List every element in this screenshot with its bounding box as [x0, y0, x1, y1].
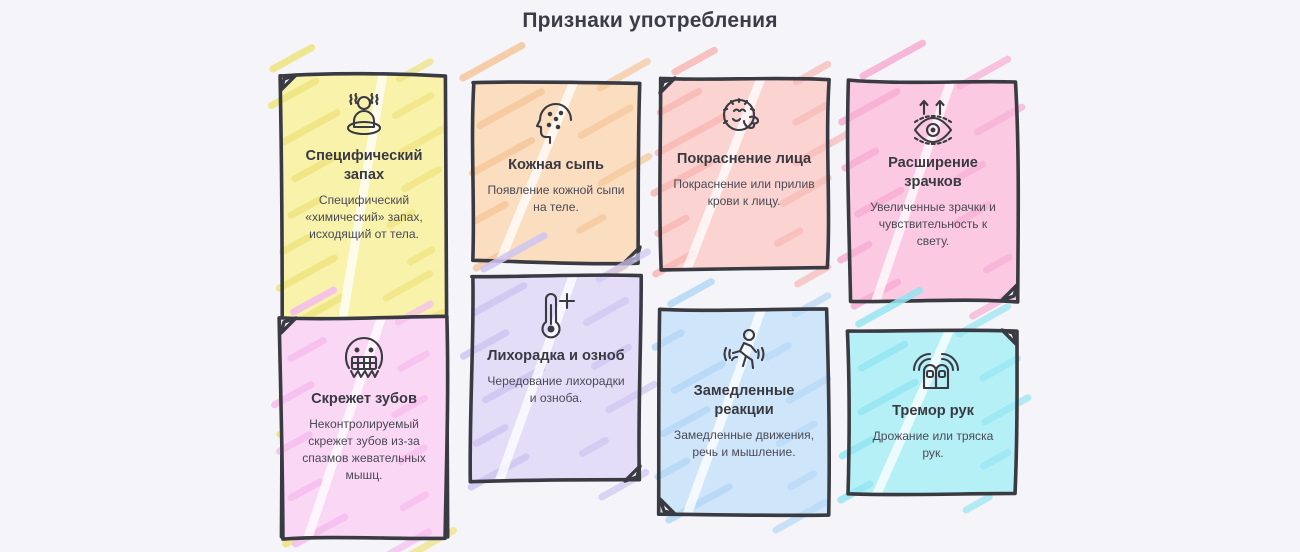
- card-content-slow-reactions: Замедленные реакцииЗамедленные движения,…: [660, 310, 828, 514]
- card-title-teeth-grinding: Скрежет зубов: [311, 390, 417, 409]
- card-description-slow-reactions: Замедленные движения, речь и мышление.: [673, 427, 815, 461]
- flushed-face-icon: [716, 92, 772, 144]
- head-rash-icon: [528, 98, 584, 150]
- card-content-hand-tremor: Тремор рукДрожание или тряска рук.: [849, 330, 1017, 494]
- card-description-dilated-pupils: Увеличенные зрачки и чувствительность к …: [862, 199, 1004, 251]
- card-facial-flushing[interactable]: Покраснение лицаПокраснение или прилив к…: [660, 78, 828, 268]
- card-skin-rash[interactable]: Кожная сыпьПоявление кожной сыпи на теле…: [472, 84, 640, 262]
- grinding-teeth-icon: [336, 332, 392, 384]
- card-title-facial-flushing: Покраснение лица: [677, 150, 811, 169]
- smelly-person-icon: [336, 89, 392, 141]
- card-content-skin-rash: Кожная сыпьПоявление кожной сыпи на теле…: [472, 84, 640, 262]
- dilated-eye-icon: [905, 96, 961, 148]
- trembling-hands-icon: [905, 344, 961, 396]
- card-content-teeth-grinding: Скрежет зубовНеконтролируемый скрежет зу…: [281, 318, 447, 538]
- card-fever-chills[interactable]: Лихорадка и ознобЧередование лихорадки и…: [472, 275, 640, 481]
- card-description-teeth-grinding: Неконтролируемый скрежет зубов из-за спа…: [294, 416, 434, 485]
- thermometer-plus-icon: [528, 289, 584, 341]
- card-content-dilated-pupils: Расширение зрачковУвеличенные зрачки и ч…: [849, 82, 1017, 300]
- card-title-dilated-pupils: Расширение зрачков: [862, 154, 1004, 192]
- card-title-hand-tremor: Тремор рук: [892, 402, 974, 421]
- running-person-icon: [716, 324, 772, 376]
- card-teeth-grinding[interactable]: Скрежет зубовНеконтролируемый скрежет зу…: [281, 318, 447, 538]
- card-description-hand-tremor: Дрожание или тряска рук.: [862, 428, 1004, 462]
- card-description-specific-smell: Специфический «химический» запах, исходя…: [294, 192, 434, 244]
- card-description-fever-chills: Чередование лихорадки и озноба.: [485, 373, 627, 407]
- card-title-slow-reactions: Замедленные реакции: [673, 382, 815, 420]
- card-content-fever-chills: Лихорадка и ознобЧередование лихорадки и…: [472, 275, 640, 481]
- card-hand-tremor[interactable]: Тремор рукДрожание или тряска рук.: [849, 330, 1017, 494]
- card-title-skin-rash: Кожная сыпь: [508, 156, 604, 175]
- card-description-skin-rash: Появление кожной сыпи на теле.: [485, 182, 627, 216]
- card-title-specific-smell: Специфический запах: [294, 147, 434, 185]
- cards-board: Специфический запахСпецифический «химиче…: [0, 0, 1300, 546]
- card-description-facial-flushing: Покраснение или прилив крови к лицу.: [673, 176, 815, 210]
- card-title-fever-chills: Лихорадка и озноб: [487, 347, 624, 366]
- card-slow-reactions[interactable]: Замедленные реакцииЗамедленные движения,…: [660, 310, 828, 514]
- card-dilated-pupils[interactable]: Расширение зрачковУвеличенные зрачки и ч…: [849, 82, 1017, 300]
- card-content-facial-flushing: Покраснение лицаПокраснение или прилив к…: [660, 78, 828, 268]
